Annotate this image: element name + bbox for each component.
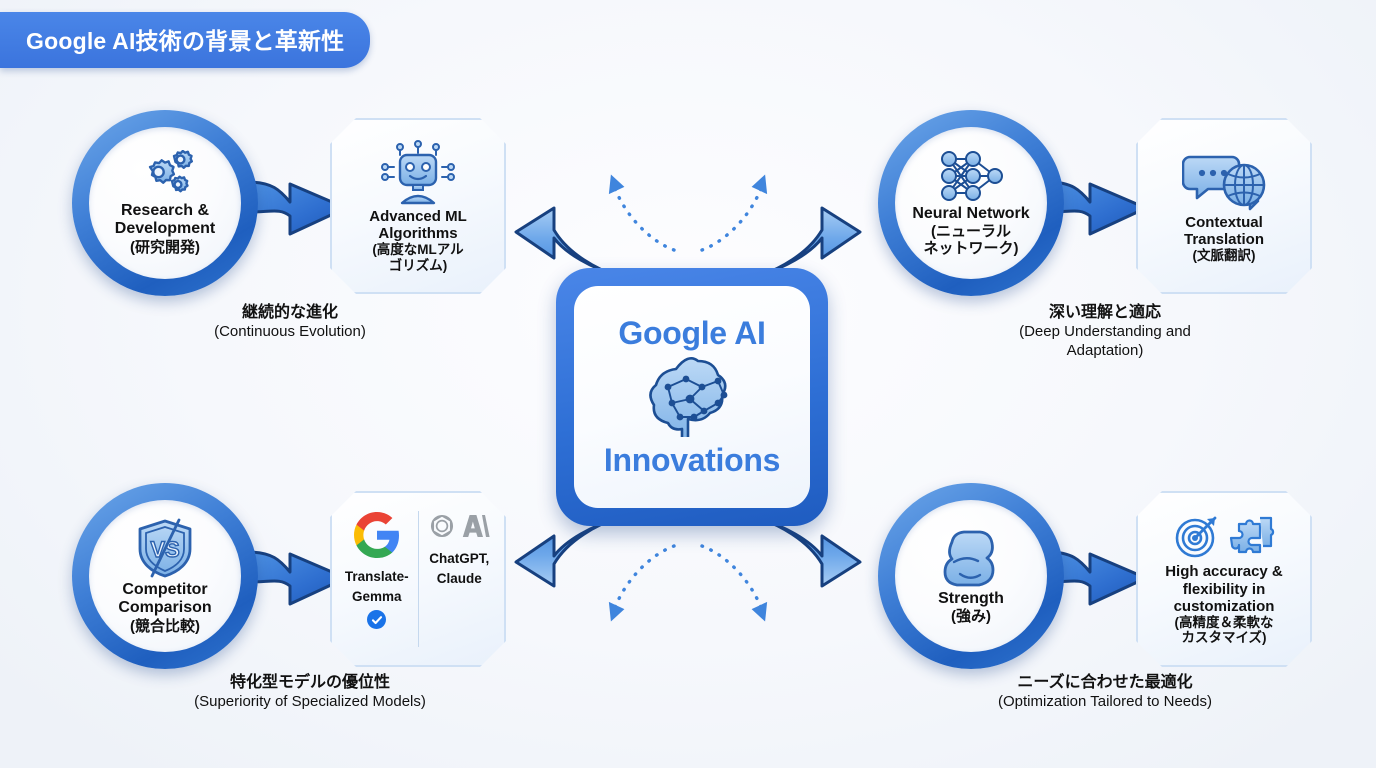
node-neural-network-inner: Neural Network (ニューラル ネットワーク) [895,127,1047,279]
node-competitor-comparison-inner: VS Competitor Comparison (競合比較) [89,500,241,652]
node-title-line1: Research & [121,202,209,220]
caption-en: (Superiority of Specialized Models) [150,693,470,712]
card-title-line3: customization [1174,598,1275,615]
caption-specialized-models: 特化型モデルの優位性 (Superiority of Specialized M… [150,673,470,712]
caption-en-line1: (Deep Understanding and [975,323,1235,342]
card-title-line2: Translation [1184,231,1264,248]
hub-arrow-top-left [506,158,626,278]
node-title-line2: Comparison [118,599,211,617]
node-title-line1: Competitor [122,581,207,599]
split-label-line2: Gemma [352,589,402,604]
target-arrow-icon [1173,512,1221,560]
hub-dotted-arrow-bottom-right [690,540,820,630]
card-title-line1: Advanced ML [369,208,467,225]
card-title-line2: flexibility in [1183,581,1266,598]
node-subtitle: (強み) [951,608,991,625]
hub-arrow-bottom-left [506,516,626,636]
caption-continuous-evolution: 継続的な進化 (Continuous Evolution) [165,303,415,342]
node-strength[interactable]: Strength (強み) [878,483,1064,669]
node-neural-network[interactable]: Neural Network (ニューラル ネットワーク) [878,110,1064,296]
node-subtitle-line1: (ニューラル [931,223,1011,240]
node-competitor-comparison[interactable]: VS Competitor Comparison (競合比較) [72,483,258,669]
card-sub-line1: (文脈翻訳) [1193,248,1256,263]
hub-title-line1: Google AI [618,316,765,351]
caption-en: (Continuous Evolution) [165,323,415,342]
page-title: Google AI技術の背景と革新性 [0,12,370,68]
card-sub-line2: カスタマイズ) [1181,630,1266,645]
card-high-accuracy-flexibility[interactable]: High accuracy & flexibility in customiza… [1136,491,1312,667]
card-sub-line2: ゴリズム) [389,258,448,273]
caption-en: (Optimization Tailored to Needs) [955,693,1255,712]
node-research-development[interactable]: Research & Development (研究開発) [72,110,258,296]
split-label-line1: ChatGPT, [429,551,489,566]
caption-deep-understanding: 深い理解と適応 (Deep Understanding and Adaptati… [975,303,1235,361]
anthropic-icon [461,513,491,544]
hub-google-ai-innovations[interactable]: Google AI Innovations [556,268,828,526]
puzzle-icon [1228,512,1276,560]
hub-dotted-arrow-bottom-left [556,540,686,630]
card-model-comparison[interactable]: Translate- Gemma [330,491,506,667]
speech-globe-icon [1182,149,1266,211]
shield-vs-icon: VS [134,517,196,579]
caption-ja: 深い理解と適応 [975,303,1235,323]
card-sub-line1: (高精度＆柔軟な [1175,615,1274,630]
split-label-line1: Translate- [345,569,409,584]
hub-dotted-arrow-top-left [556,166,686,256]
card-contextual-translation[interactable]: Contextual Translation (文脈翻訳) [1136,118,1312,294]
split-half-competitors[interactable]: ChatGPT, Claude [421,507,499,651]
infographic-canvas: Google AI技術の背景と革新性 [0,0,1376,768]
neural-network-icon [935,149,1007,203]
hub-arrow-top-right [750,158,870,278]
robot-ai-icon [380,139,456,205]
hub-dotted-arrow-top-right [690,166,820,256]
node-subtitle: (研究開発) [130,239,200,256]
openai-swirl-icon [427,511,457,546]
card-title-line1: High accuracy & [1165,563,1283,580]
split-label-line2: Claude [437,571,482,586]
hub-inner: Google AI Innovations [574,286,810,508]
caption-ja: 継続的な進化 [165,303,415,323]
card-advanced-ml-algorithms[interactable]: Advanced ML Algorithms (高度なMLアル ゴリズム) [330,118,506,294]
gears-icon [130,150,200,200]
hub-title-line2: Innovations [604,443,780,478]
node-title-line2: Development [115,220,215,238]
node-subtitle: (競合比較) [130,618,200,635]
node-title-line1: Strength [938,590,1004,608]
google-g-icon [353,511,401,564]
caption-en-line2: Adaptation) [975,342,1235,361]
node-research-development-inner: Research & Development (研究開発) [89,127,241,279]
node-strength-inner: Strength (強み) [895,500,1047,652]
split-divider [418,511,419,647]
card-title-line1: Contextual [1185,214,1263,231]
check-badge-icon [367,610,386,629]
caption-ja: 特化型モデルの優位性 [150,673,470,693]
node-title-line1: Neural Network [912,205,1029,223]
flexed-arm-icon [938,526,1004,588]
node-subtitle-line2: ネットワーク) [924,240,1019,257]
card-title-line2: Algorithms [378,225,457,242]
hub-arrow-bottom-right [750,516,870,636]
competitor-logos [427,511,491,546]
card-sub-line1: (高度なMLアル [372,242,463,257]
caption-optimization-needs: ニーズに合わせた最適化 (Optimization Tailored to Ne… [955,673,1255,712]
brain-network-icon [646,357,738,437]
split-half-google[interactable]: Translate- Gemma [338,507,416,651]
caption-ja: ニーズに合わせた最適化 [955,673,1255,693]
accuracy-icons [1173,512,1276,560]
